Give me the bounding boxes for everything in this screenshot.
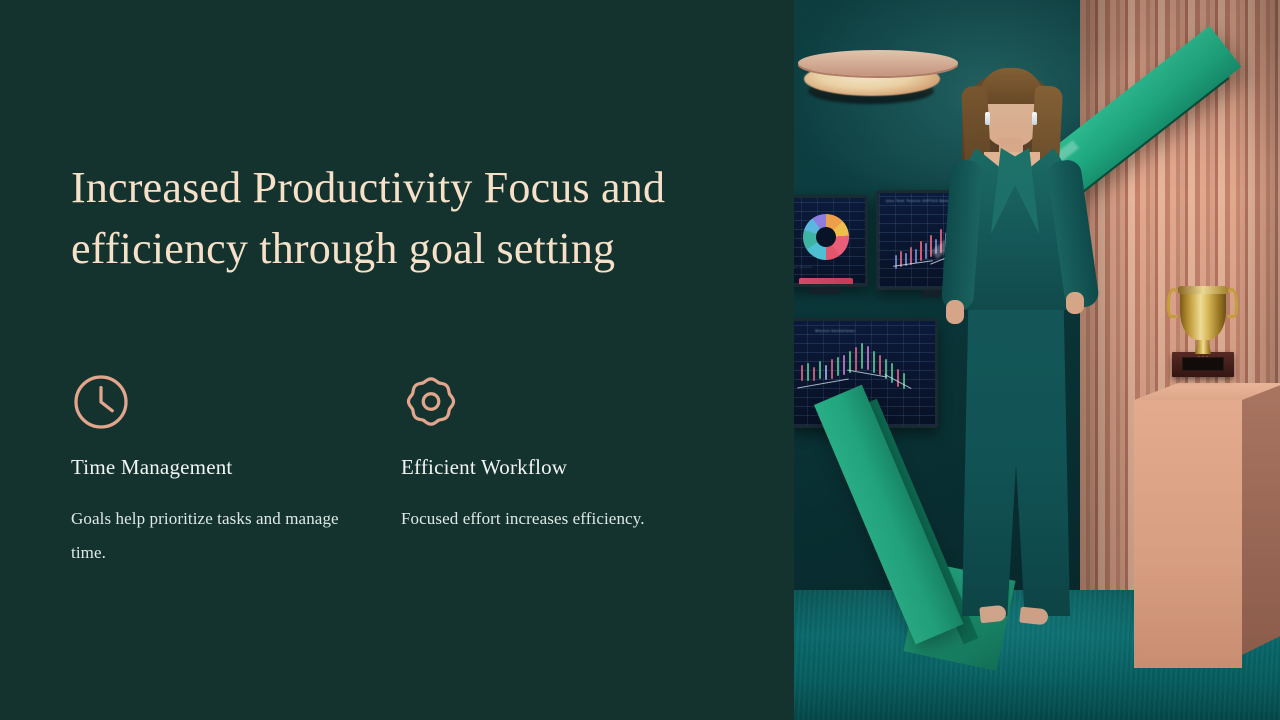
page-title: Increased Productivity Focus and efficie… <box>71 157 731 279</box>
ceiling-lamp-icon <box>798 50 958 76</box>
feature-item-efficient-workflow: Efficient Workflow Focused effort increa… <box>401 372 731 570</box>
woman-hand-left <box>946 300 964 324</box>
woman-shoe-right <box>1019 607 1049 626</box>
pedestal-side <box>1242 383 1280 655</box>
trophy-handle-left <box>1167 288 1180 318</box>
woman-earring-left <box>985 112 990 125</box>
woman-hand-right <box>1066 292 1084 314</box>
feature-heading: Efficient Workflow <box>401 454 731 480</box>
trophy-cup <box>1180 288 1226 340</box>
woman-earring-right <box>1032 112 1037 125</box>
feature-item-time-management: Time Management Goals help prioritize ta… <box>71 372 401 570</box>
feature-body: Goals help prioritize tasks and manage t… <box>71 502 371 570</box>
clock-icon <box>71 372 401 432</box>
feature-body: Focused effort increases efficiency. <box>401 502 701 536</box>
slide-photo: —— ——— Uso Test Teorno GtPOI3 Besolve Te… <box>794 0 1280 720</box>
pedestal-front <box>1134 400 1242 668</box>
feature-list: Time Management Goals help prioritize ta… <box>71 372 731 570</box>
text-panel: Increased Productivity Focus and efficie… <box>0 0 794 720</box>
trophy-plaque <box>1182 357 1224 371</box>
gear-icon <box>401 372 731 432</box>
trophy-handle-right <box>1225 288 1238 318</box>
feature-heading: Time Management <box>71 454 401 480</box>
presentation-slide: Increased Productivity Focus and efficie… <box>0 0 1280 720</box>
trophy-rim <box>1178 286 1228 294</box>
